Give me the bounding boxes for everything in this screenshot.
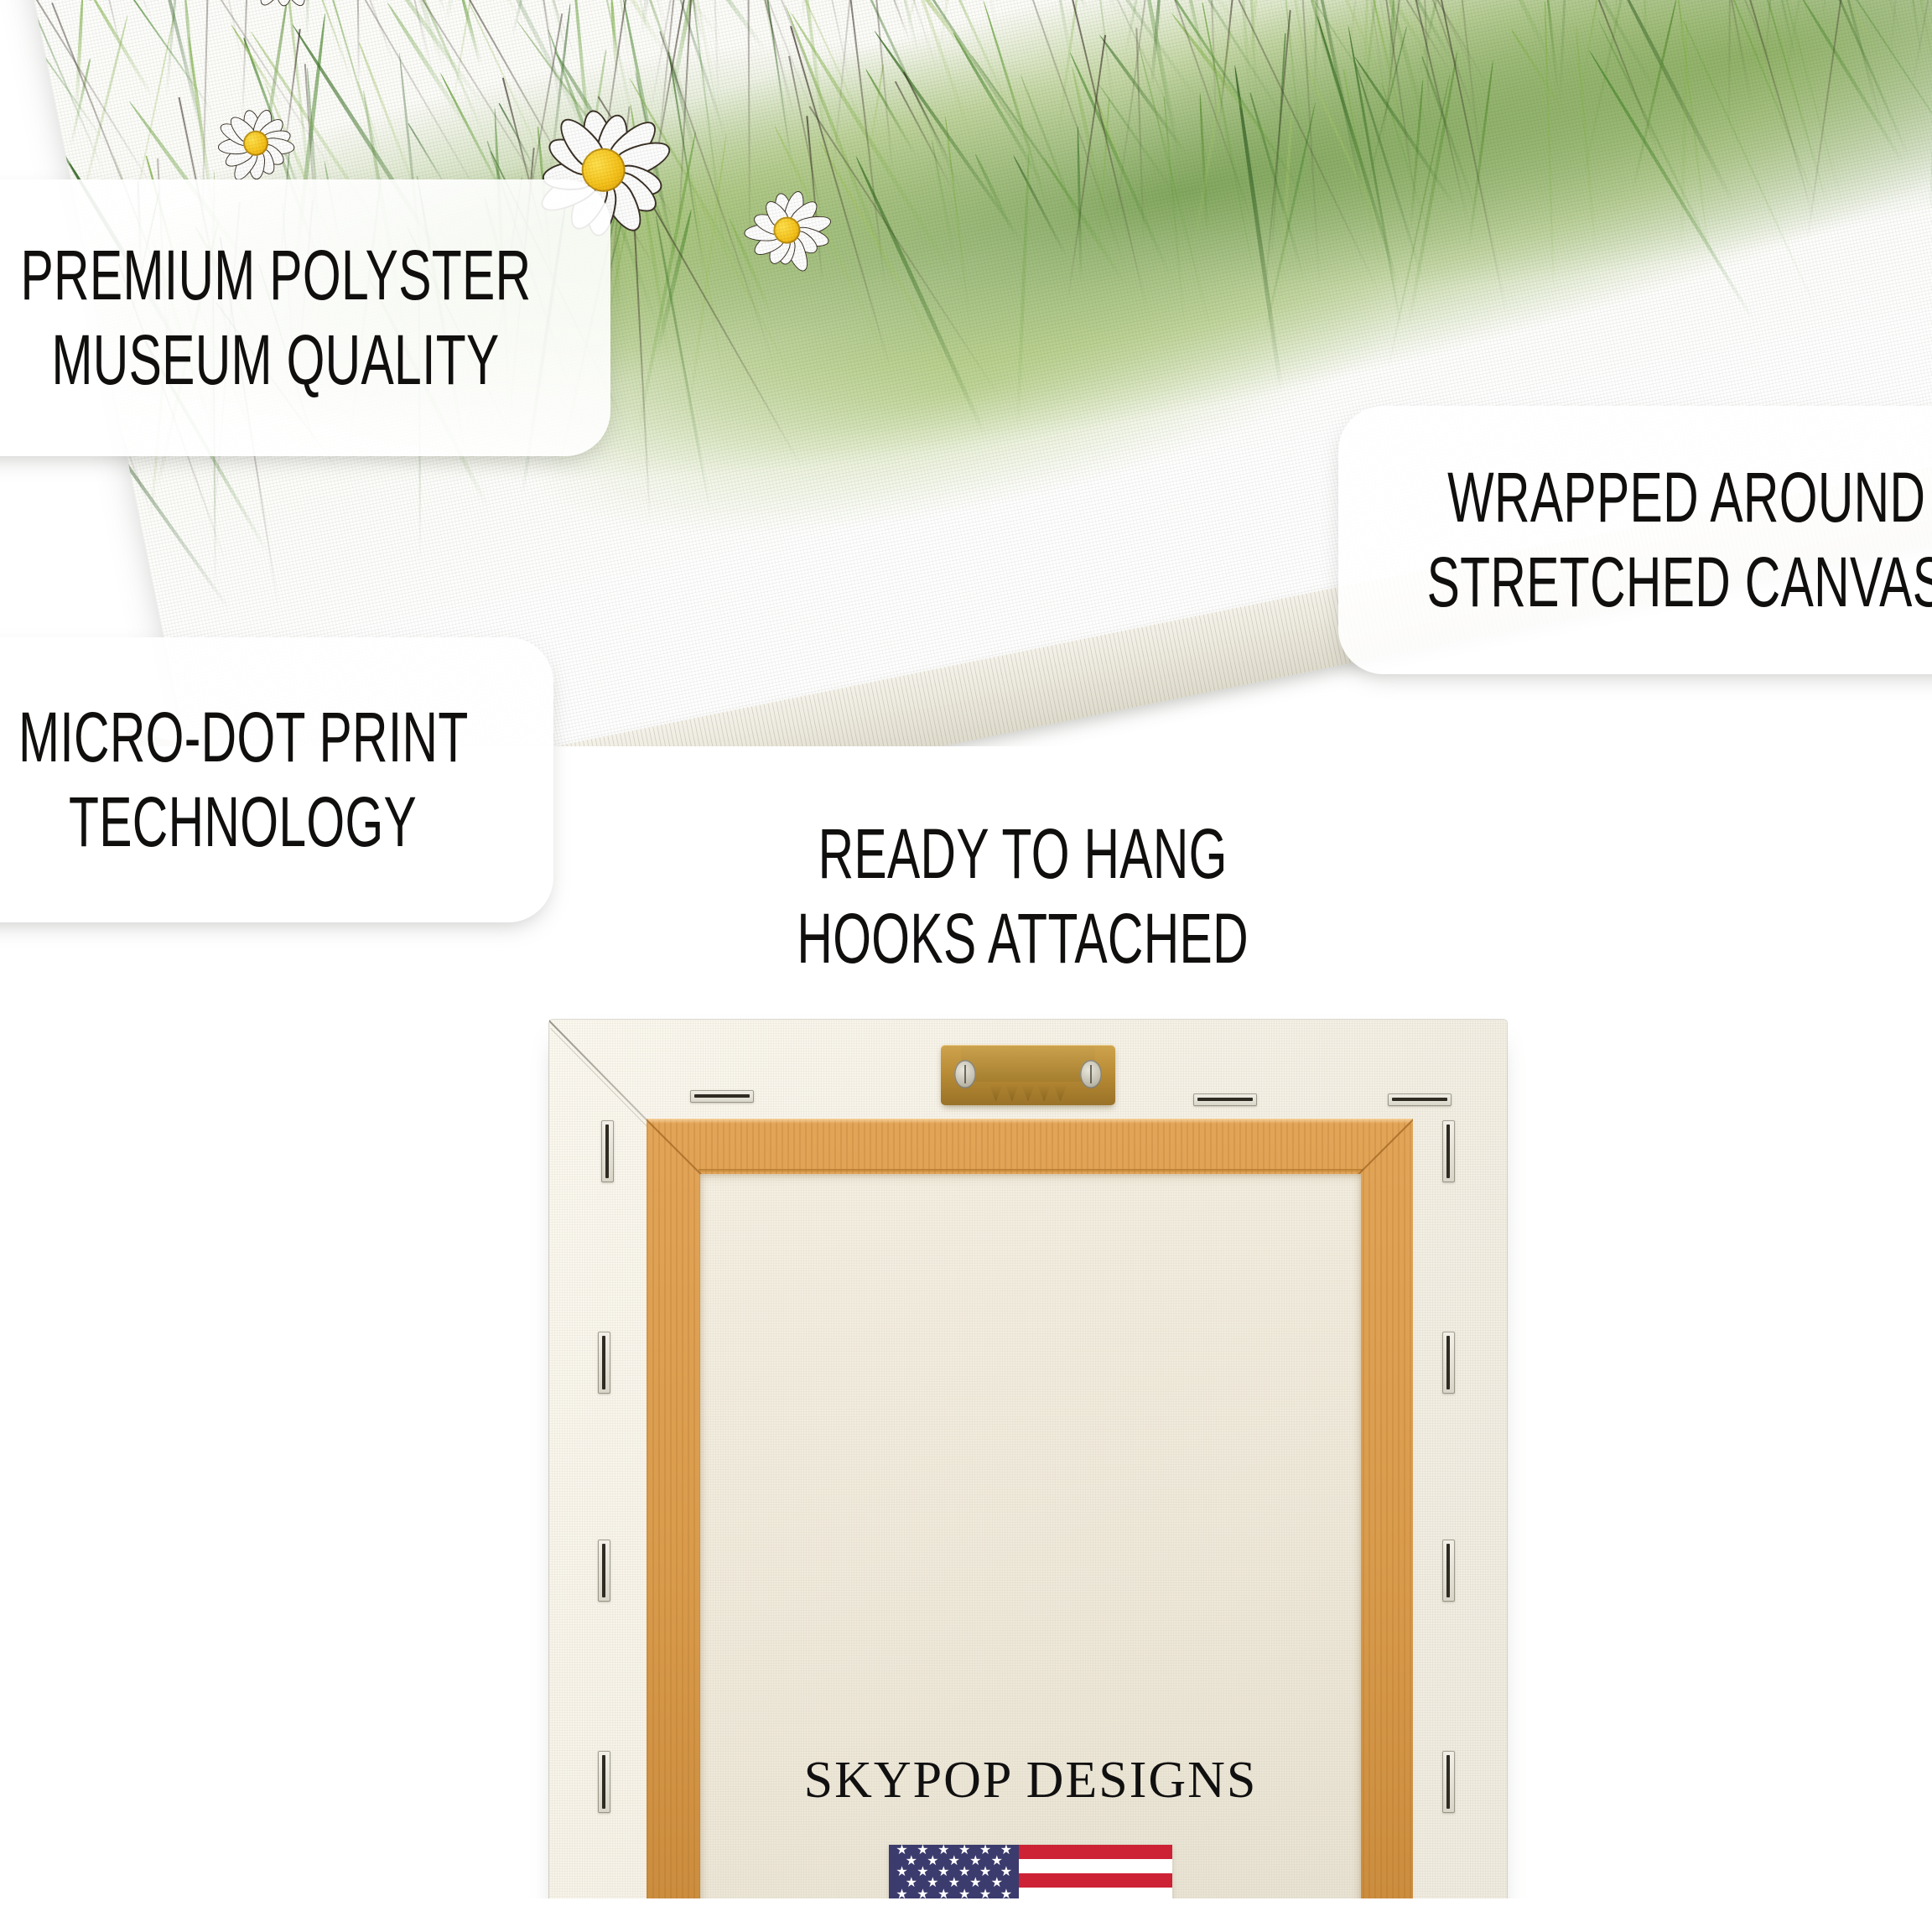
callout-line-1: READY TO HANG	[818, 812, 1228, 896]
callout-line-2: MUSEUM QUALITY	[52, 318, 500, 402]
callout-line-2: HOOKS ATTACHED	[797, 896, 1249, 981]
callout-line-1: WRAPPED AROUND	[1447, 455, 1925, 540]
staple	[690, 1090, 754, 1103]
inner-canvas-back: SKYPOP DESIGNS ★★★★★★★★★★★★★★★★★★★★★★★★★…	[700, 1174, 1361, 1932]
staple	[1193, 1093, 1257, 1106]
sawtooth-hanger-icon	[941, 1045, 1115, 1105]
hanger-teeth	[988, 1083, 1068, 1102]
brand-name: SKYPOP DESIGNS	[700, 1751, 1361, 1810]
staple	[1442, 1332, 1455, 1394]
staple	[1388, 1093, 1452, 1106]
hanger-screw-left	[954, 1060, 976, 1088]
staple	[598, 1332, 610, 1394]
infographic-canvas: PREMIUM POLYSTER MUSEUM QUALITY MICRO-DO…	[0, 0, 1932, 1932]
hanger-screw-right	[1080, 1060, 1102, 1088]
staple	[601, 1120, 614, 1182]
callout-line-1: MICRO-DOT PRINT	[18, 695, 469, 780]
callout-line-1: PREMIUM POLYSTER	[21, 233, 532, 318]
callout-ready-to-hang: READY TO HANG HOOKS ATTACHED	[730, 812, 1317, 981]
staple	[598, 1540, 610, 1602]
wooden-stretcher-frame: SKYPOP DESIGNS ★★★★★★★★★★★★★★★★★★★★★★★★★…	[647, 1119, 1413, 1932]
canvas-back-view: SKYPOP DESIGNS ★★★★★★★★★★★★★★★★★★★★★★★★★…	[549, 1020, 1507, 1932]
callout-premium-polyster: PREMIUM POLYSTER MUSEUM QUALITY	[0, 179, 610, 456]
staple	[1442, 1120, 1455, 1182]
callout-line-2: STRETCHED CANVAS	[1427, 540, 1932, 625]
callout-micro-dot-print: MICRO-DOT PRINT TECHNOLOGY	[0, 637, 553, 922]
bottom-spacer	[0, 1898, 1932, 1932]
staple	[598, 1751, 610, 1813]
staple	[1442, 1751, 1455, 1813]
callout-wrapped-around: WRAPPED AROUND STRETCHED CANVAS	[1338, 406, 1932, 674]
staple	[1442, 1540, 1455, 1602]
callout-line-2: TECHNOLOGY	[69, 780, 417, 865]
